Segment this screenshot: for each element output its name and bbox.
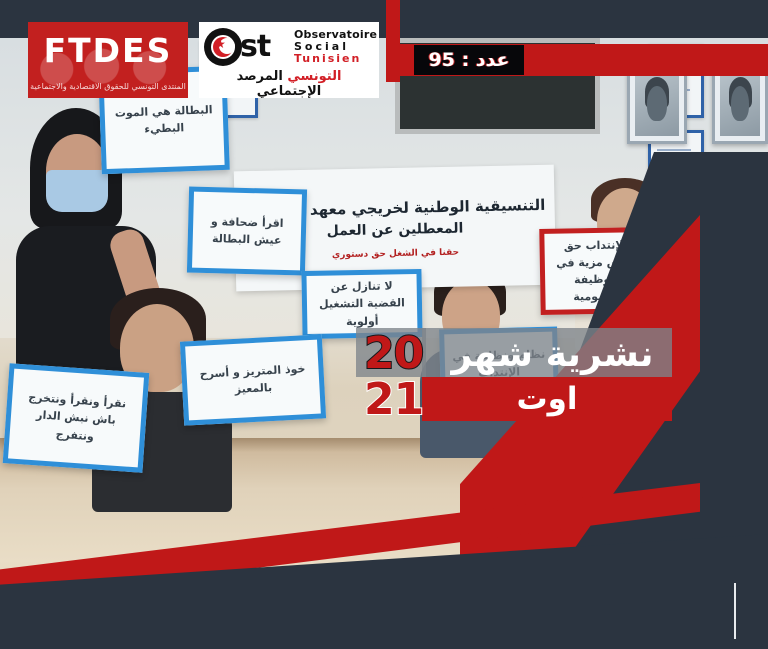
placard: نقرأ ونقرأ ونتخرج باش نبش الدار ونتفرج [3, 363, 150, 473]
crescent-star-icon: ★ [204, 28, 242, 66]
ost-arabic-red: التونسي [287, 69, 341, 84]
placard-text: لا تنازل عن القضية التشغيل أولوية [307, 274, 418, 333]
ftdes-logo: FTDES المنتدى التونسي للحقوق الاقتصادية … [28, 22, 188, 98]
ftdes-arabic-subtitle: المنتدى التونسي للحقوق الاقتصادية والاجت… [28, 82, 188, 91]
ost-logo: ★ st Observatoire Social Tunisien التونس… [199, 22, 379, 98]
decor-white-line [734, 583, 736, 639]
ost-line-3: Tunisien [294, 53, 377, 65]
issue-label: عدد : 95 [429, 49, 510, 71]
placard-text: البطالة هي الموت البطيء [104, 98, 223, 142]
ost-mark: ★ st [204, 27, 282, 67]
banner-line-2: المعطلين عن العمل [326, 218, 463, 242]
placard-text: خوذ المتريز و أسرح بالمعيز [186, 357, 320, 404]
issue-number-box: عدد : 95 [414, 45, 524, 75]
ost-arabic-name: التونسي المرصد الإجتماعي [204, 69, 374, 98]
year-top: 20 [364, 332, 423, 376]
month-label: اوت [422, 377, 672, 421]
red-vertical-accent [386, 0, 400, 82]
newsletter-cover: التنسيقية الوطنية لخريجي معهد الصحافة ال… [0, 0, 768, 649]
placard: خوذ المتريز و أسرح بالمعيز [180, 334, 326, 425]
placard-text: نقرأ ونقرأ ونتخرج باش نبش الدار ونتفرج [9, 385, 143, 451]
year-bottom: 21 [364, 378, 423, 422]
banner-line-3: حقنا في الشغل حق دستوري [332, 247, 459, 260]
placard: اقرأ ضحافة و عيش البطالة [187, 186, 307, 275]
placard-text: اقرأ ضحافة و عيش البطالة [192, 210, 301, 253]
page-title: نشرية شهر [430, 330, 675, 378]
ftdes-acronym: FTDES [28, 31, 188, 70]
ost-wordmark: st [240, 29, 270, 64]
